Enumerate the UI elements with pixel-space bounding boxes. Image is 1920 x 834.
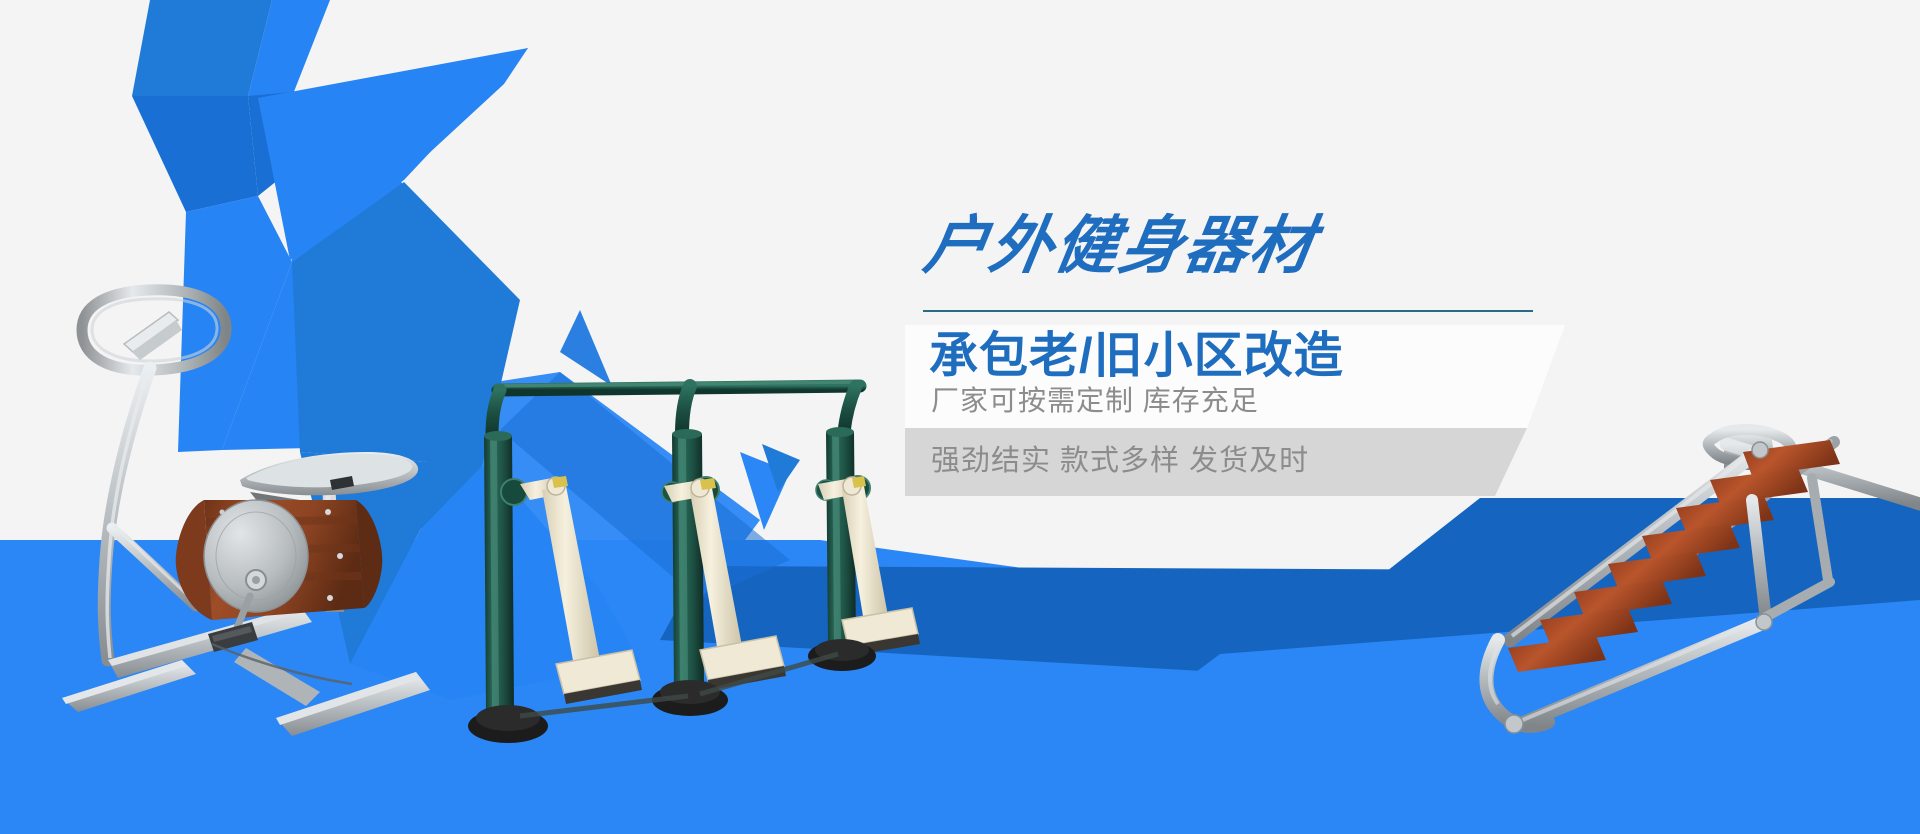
star-facet-4: [248, 82, 400, 196]
walker-accent-1: [552, 476, 568, 488]
bike-wood-round-left: [176, 500, 212, 620]
bike-handlebar: [82, 290, 226, 370]
bike-seat-post: [322, 470, 344, 612]
tagline-primary: 厂家可按需定制 库存充足: [931, 387, 1259, 415]
bike-bolt-4: [220, 510, 225, 515]
walker-accent-3: [852, 476, 866, 488]
bench-rear-leg: [1752, 500, 1766, 620]
walker-top-rail: [498, 386, 860, 390]
walker-arm-3: [818, 478, 858, 500]
bench-rear-rail: [1726, 444, 1920, 504]
walker-arm-2-cap: [691, 479, 709, 497]
bike-base-link: [234, 648, 320, 706]
bench-joint-1: [1505, 715, 1523, 733]
walker-arm-2b: [690, 488, 742, 652]
walker-pedal-2-edge: [708, 666, 786, 690]
bench-front-leg: [1486, 640, 1548, 726]
bike-strut-hl: [114, 526, 196, 603]
walker-arm-1-cap: [547, 477, 565, 495]
star-facet-6: [258, 80, 402, 260]
walker-foot-left-top: [476, 705, 540, 731]
blue-wedge-small: [740, 452, 790, 530]
walker-foot-right: [808, 641, 876, 671]
walker-post-left-cap: [484, 431, 512, 441]
star-facet-14: [178, 196, 292, 452]
bike-seat-post-hl: [324, 472, 337, 610]
bench-slat-5: [1608, 552, 1706, 588]
star-facet-11: [258, 48, 528, 180]
blue-wedge-mid-dark: [500, 372, 790, 600]
walker-pedal-3: [842, 608, 918, 646]
bike-saddle-shadow: [250, 492, 300, 512]
bike-saddle: [240, 452, 418, 495]
walker-arm-3-cap: [843, 477, 861, 495]
bike-wood-plank-1: [206, 516, 358, 526]
bench-slat-1: [1743, 440, 1840, 476]
bench-front-leg-hl: [1490, 642, 1500, 704]
bike-strut: [112, 528, 196, 606]
walker-post-mid-hl: [678, 438, 688, 686]
bench-incline-rail-far-hl: [1610, 440, 1832, 612]
star-facet-3: [132, 96, 258, 212]
walker-pedal-1: [556, 650, 640, 694]
bench-rear-leg-2: [1812, 478, 1828, 580]
star-facet-15: [222, 180, 420, 450]
bench-incline-rail-far: [1608, 442, 1834, 616]
star-facet-20: [300, 452, 482, 664]
bench-joint-2: [1756, 614, 1772, 630]
tagline-secondary: 强劲结实 款式多样 发货及时: [931, 447, 1309, 476]
bench-rear-cross: [1764, 582, 1830, 618]
star-facet-2: [248, 0, 330, 112]
bike-base-rear-top: [276, 672, 420, 725]
bike-hub: [246, 570, 266, 590]
sub-headline: 承包老/旧小区改造: [929, 332, 1344, 381]
blue-floor-left: [0, 540, 1920, 834]
blue-wedge-tiny: [762, 444, 800, 492]
bike-wood-plank-3: [207, 572, 361, 582]
walker-hub-left: [501, 479, 527, 505]
walker-hub-mid2: [662, 482, 682, 502]
walker-post-right-bend: [844, 386, 856, 432]
walker-post-mid-bend: [682, 386, 690, 434]
walker-arm-2: [664, 480, 708, 502]
bike-crank: [232, 596, 250, 640]
walker-post-mid-cap: [672, 429, 702, 439]
walker-pedal-3-edge: [848, 634, 920, 656]
bench-slat-3: [1676, 496, 1774, 532]
bike-bolt-3: [327, 595, 333, 601]
bike-base-mid: [108, 606, 312, 678]
bike-base-rear: [276, 672, 430, 736]
bench-joint-3: [1752, 442, 1768, 458]
star-facet-21: [350, 466, 520, 664]
star-facet-1: [132, 0, 272, 96]
walker-post-right-hl: [832, 436, 841, 642]
bike-base-front-top: [62, 660, 186, 704]
walker-top-rail-hl: [502, 382, 856, 386]
walker-arm-1: [520, 478, 560, 500]
blue-floor-right: [980, 600, 1920, 834]
bike-base-mid-top: [108, 606, 304, 666]
walker-post-mid: [672, 434, 704, 690]
shard-3: [382, 436, 398, 472]
bike-bolt-2: [337, 553, 343, 559]
bike-mast: [104, 368, 150, 660]
headline-block: 户外健身器材 承包老/旧小区改造 厂家可按需定制 库存充足 强劲结实 款式多样 …: [905, 215, 1625, 505]
walker-accent-2: [700, 478, 716, 490]
bike-handle-plate: [124, 312, 178, 352]
walker-post-left-bend: [492, 390, 500, 436]
walker-post-left: [484, 436, 514, 712]
bike-wood-plank-2: [206, 544, 360, 554]
star-facet-12: [258, 48, 528, 262]
promo-banner: 户外健身器材 承包老/旧小区改造 厂家可按需定制 库存充足 强劲结实 款式多样 …: [0, 0, 1920, 834]
bike-pedal: [208, 622, 258, 652]
bike-flywheel-inner: [216, 512, 296, 600]
bike-handlebar-inner: [92, 299, 217, 361]
walker-ground-bar-2: [700, 654, 838, 694]
blue-band-dark: [660, 566, 1920, 712]
bike-wood-housing: [204, 500, 364, 620]
walker-ground-bar: [520, 696, 688, 716]
walker-foot-right-top: [815, 639, 869, 661]
bike-mast-hl: [107, 372, 148, 658]
bike-teeth: [330, 476, 354, 490]
walker-pedal-2: [700, 636, 784, 680]
walker-hub-right: [846, 476, 870, 500]
walker-post-left-hl: [490, 440, 499, 708]
bike-wood-round-right: [356, 500, 382, 608]
walker-foot-mid: [652, 684, 728, 716]
walker-arm-1b: [542, 486, 600, 666]
walker-post-right-cap: [826, 427, 854, 437]
star-facet-18: [292, 182, 520, 466]
bike-chain: [212, 644, 352, 684]
bike-base-front: [62, 660, 196, 712]
walker-post-right: [826, 432, 856, 646]
bench-rear-upright: [1724, 434, 1776, 470]
bench-base-bar: [1516, 624, 1760, 726]
title-divider: [923, 310, 1533, 312]
bike-flywheel: [204, 500, 308, 612]
bench-base-bar-hl: [1518, 621, 1758, 722]
bench-slat-6: [1574, 580, 1672, 616]
shard-2: [346, 348, 366, 390]
walker-foot-mid-top: [660, 680, 720, 704]
bench-slat-7: [1540, 608, 1638, 644]
bike-saddle-top: [246, 454, 412, 487]
walker-pedal-1-edge: [564, 680, 642, 704]
star-facet-22: [350, 498, 640, 700]
bench-slat-4: [1642, 524, 1740, 560]
walker-arm-3b: [842, 486, 888, 622]
bench-top-bar: [1708, 429, 1791, 463]
blue-wedge-spike: [560, 310, 612, 386]
bike-pedal-grip: [212, 626, 252, 642]
walker-hub-mid: [693, 477, 719, 503]
bench-slat-2: [1710, 468, 1808, 504]
shard-1: [384, 296, 410, 322]
bike-hub-center: [252, 576, 260, 584]
bench-slat-8: [1508, 636, 1606, 672]
bike-handle-plate-2: [132, 320, 182, 360]
bike-bolt-1: [325, 509, 331, 515]
page-title: 户外健身器材: [920, 215, 1320, 278]
walker-foot-left: [468, 709, 548, 743]
blue-band-dark-2: [1350, 498, 1920, 600]
blue-wedge-mid: [420, 372, 760, 600]
walker-hub-right2: [816, 480, 836, 500]
